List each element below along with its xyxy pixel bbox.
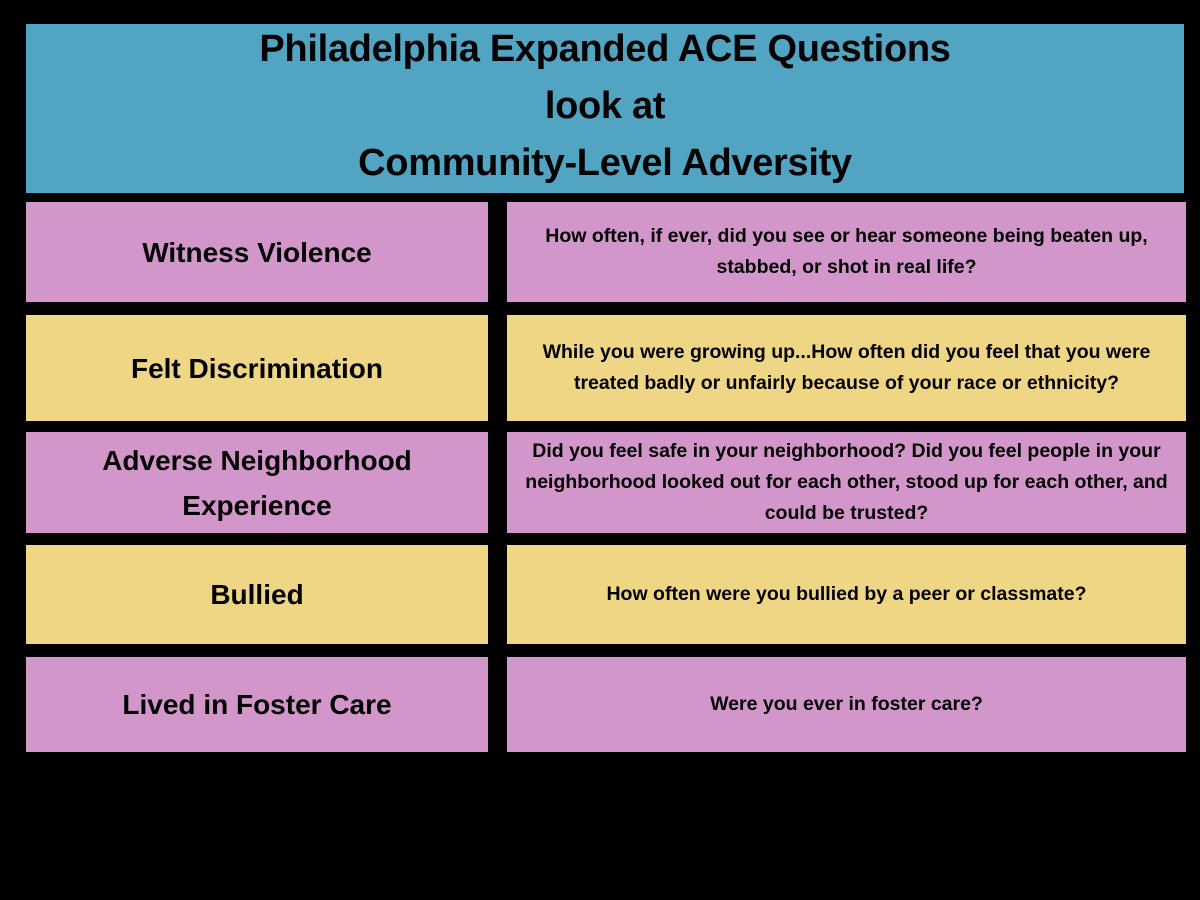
ace-category-label: Adverse Neighborhood Experience [26,432,488,533]
table-row: Lived in Foster Care Were you ever in fo… [0,657,1200,752]
ace-question-text: How often were you bullied by a peer or … [507,545,1186,644]
table-row: Adverse Neighborhood Experience Did you … [0,432,1200,533]
ace-category-label: Bullied [26,545,488,644]
slide-canvas: Philadelphia Expanded ACE Questions look… [0,0,1200,900]
table-row: Bullied How often were you bullied by a … [0,545,1200,644]
table-row: Felt Discrimination While you were growi… [0,315,1200,421]
ace-question-text: Did you feel safe in your neighborhood? … [507,432,1186,533]
ace-category-label: Felt Discrimination [26,315,488,421]
title-line-2: look at [545,78,665,135]
title-banner: Philadelphia Expanded ACE Questions look… [26,24,1184,193]
title-line-3: Community-Level Adversity [358,135,852,192]
ace-question-text: Were you ever in foster care? [507,657,1186,752]
title-line-1: Philadelphia Expanded ACE Questions [259,21,950,78]
ace-category-label: Witness Violence [26,202,488,302]
table-row: Witness Violence How often, if ever, did… [0,202,1200,302]
ace-question-text: While you were growing up...How often di… [507,315,1186,421]
ace-category-label: Lived in Foster Care [26,657,488,752]
ace-question-text: How often, if ever, did you see or hear … [507,202,1186,302]
